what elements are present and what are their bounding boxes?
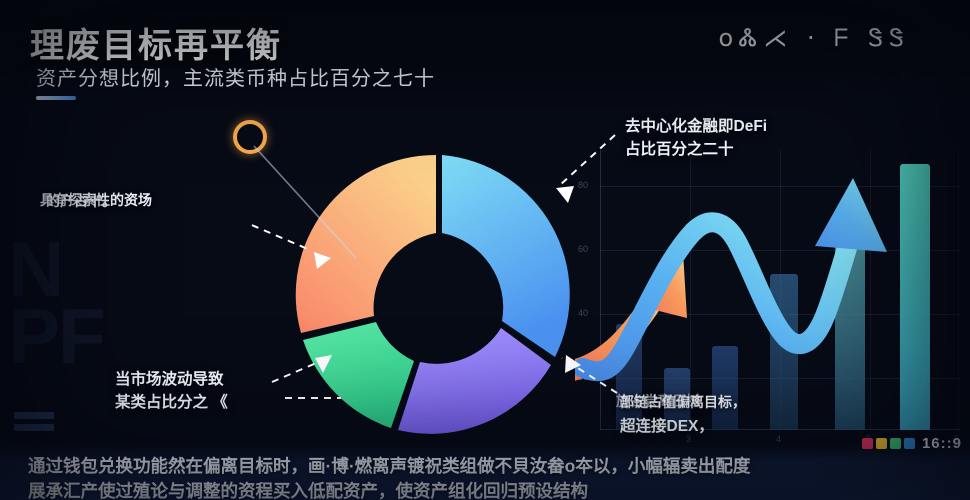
annotation-exploratory: 具有探索性的资场 的产占十。 (40, 190, 152, 210)
annotation-dex-line2: 超连接DEX， (620, 415, 714, 438)
footer-line-1: 通过钱包兑换功能然在偏离目标时，画·博·燃离声镀祝类组做不貝汝畚ᴏ夲以，小幅辐卖… (28, 454, 958, 479)
page-title: 理废目标再平衡 (30, 18, 282, 67)
footer-line-1-b: 然在偏离目标时， (168, 456, 308, 476)
annotation-dex-line1: 部链占值偏离目标， 旋占尝离日树 (620, 392, 746, 412)
footer-line-1-a: 通过钱包兑换功能 (28, 456, 168, 476)
page-subtitle: 资产分想比例，主流类币种占比百分之七十 (36, 62, 435, 91)
donut-segment-purple[interactable] (398, 328, 551, 434)
footer-line-1-d: 不貝汝畚ᴏ夲以，小幅辐卖出配度 (495, 456, 751, 476)
badge-swatch-1 (862, 438, 873, 449)
badge-swatch-2 (876, 438, 887, 449)
badge-ratio-label: 16::9 (922, 435, 962, 452)
ring-marker-leader (248, 140, 368, 270)
annotation-volatility: 当市场波动导致 某类占比分之 《 (115, 368, 228, 415)
title-underline-rule (36, 96, 76, 100)
watermark-bars (14, 412, 54, 436)
footer-line-2-b: 买入低配资产，使资产组化回归预设结构 (273, 481, 588, 500)
badge-swatch-3 (890, 438, 901, 449)
infographic-canvas: N PF 理废目标再平衡 资产分想比例，主流类币种占比百分之七十 ᴏᏜ⋌ · ᖴ… (0, 0, 970, 500)
footer-line-1-c: 画·博·燃离声镀祝类组做 (308, 456, 495, 476)
watermark-line-2: PF (8, 303, 138, 370)
annotation-exploratory-overlay: 的产占十。 (46, 191, 116, 211)
volatility-connector (285, 378, 405, 418)
watermark-badge: 16::9 (862, 435, 962, 452)
footer-line-2: 展承汇产使过殖论与调整的资程买入低配资产，使资产组化回归预设结构 (28, 479, 958, 500)
footer-text: 通过钱包兑换功能然在偏离目标时，画·博·燃离声镀祝类组做不貝汝畚ᴏ夲以，小幅辐卖… (28, 454, 958, 500)
brand-logo-glyphs: ᴏᏜ⋌ · ᖴ ᏕᏕ (718, 24, 910, 52)
annotation-defi: 去中心化金融即DeFi 占比百分之二十 (625, 115, 767, 162)
badge-swatch-4 (904, 438, 915, 449)
annotation-dex-overlay: 旋占尝离日树 (616, 391, 700, 411)
footer-line-2-a: 展承汇产使过殖论与调整的资程 (28, 481, 273, 500)
donut-segment-blue[interactable] (442, 155, 570, 357)
